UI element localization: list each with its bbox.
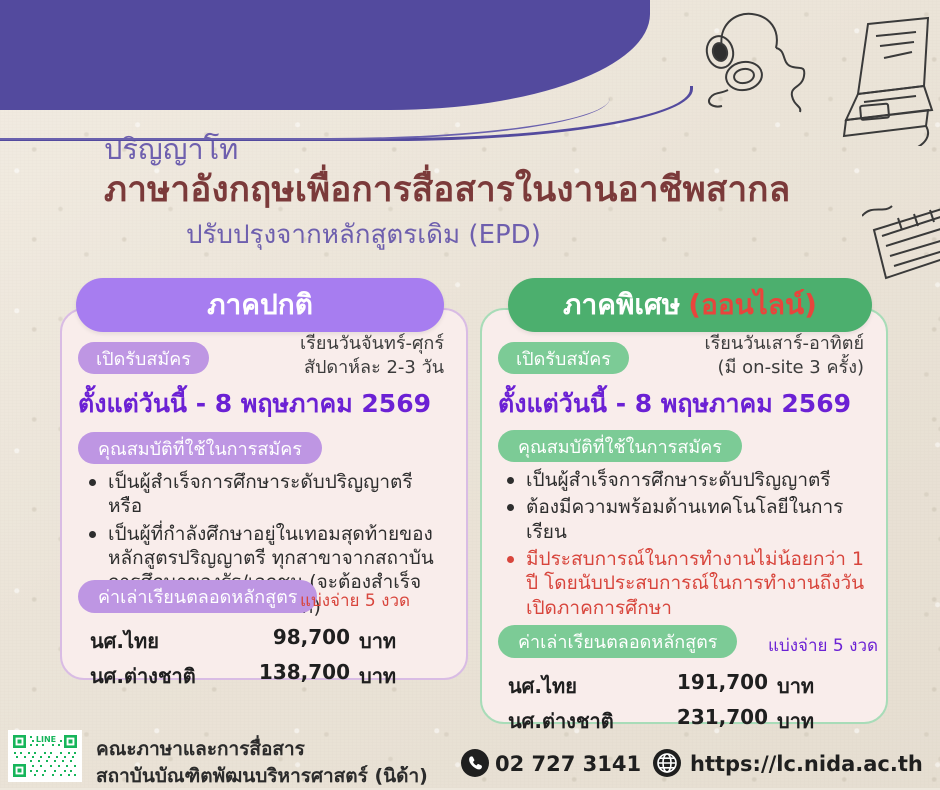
program-header-label: ภาคปกติ: [207, 283, 313, 327]
schedule-line-2: (มี on-site 3 ครั้ง): [648, 356, 864, 380]
phone-icon: [460, 748, 490, 778]
fee-row-currency: บาท: [359, 660, 396, 692]
list-item: เป็นผู้สำเร็จการศึกษาระดับปริญญาตรี หรือ: [82, 470, 448, 519]
fee-row-label: นศ.ไทย: [508, 670, 632, 702]
schedule-line-2: สัปดาห์ละ 2-3 วัน: [244, 356, 444, 380]
table-row: นศ.ไทย 98,700 บาท: [90, 625, 396, 657]
footer-website[interactable]: https://lc.nida.ac.th: [690, 752, 923, 776]
list-item: เป็นผู้สำเร็จการศึกษาระดับปริญญาตรี: [500, 468, 874, 492]
globe-icon: [652, 748, 682, 778]
fee-row-amount: 98,700: [214, 625, 350, 657]
fee-label-special-online: ค่าเล่าเรียนตลอดหลักสูตร: [498, 625, 737, 658]
deadline-regular: ตั้งแต่วันนี้ - 8 พฤษภาคม 2569: [78, 384, 431, 424]
fee-row-amount: 138,700: [214, 660, 350, 692]
line-qr-code[interactable]: LINE: [8, 730, 82, 782]
schedule-line-1: เรียนวันจันทร์-ศุกร์: [244, 332, 444, 356]
footer-organization: คณะภาษาและการสื่อสาร สถาบันบัณฑิตพัฒนบริ…: [96, 736, 428, 790]
fee-row-currency: บาท: [777, 705, 814, 737]
program-note: ปรับปรุงจากหลักสูตรเดิม (EPD): [186, 214, 541, 255]
badge-open-special-online: เปิดรับสมัคร: [498, 342, 629, 374]
table-row: นศ.ไทย 191,700 บาท: [508, 670, 814, 702]
fee-row-amount: 191,700: [632, 670, 768, 702]
footer-org-line-2: สถาบันบัณฑิตพัฒนบริหารศาสตร์ (นิด้า): [96, 763, 428, 790]
schedule-line-1: เรียนวันเสาร์-อาทิตย์: [648, 332, 864, 356]
fee-row-currency: บาท: [359, 625, 396, 657]
list-item: มีประสบการณ์ในการทำงานไม่น้อยกว่า 1 ปี โ…: [500, 547, 874, 620]
fee-row-label: นศ.ต่างชาติ: [90, 660, 214, 692]
deadline-special-online: ตั้งแต่วันนี้ - 8 พฤษภาคม 2569: [498, 384, 851, 424]
program-header-regular: ภาคปกติ: [76, 278, 444, 332]
list-item: ต้องมีความพร้อมด้านเทคโนโลยีในการเรียน: [500, 495, 874, 544]
footer-org-line-1: คณะภาษาและการสื่อสาร: [96, 736, 428, 763]
laptop-doodle-icon: [820, 14, 938, 146]
fee-row-label: นศ.ต่างชาติ: [508, 705, 632, 737]
fee-table-special-online: นศ.ไทย 191,700 บาท นศ.ต่างชาติ 231,700 บ…: [508, 670, 814, 740]
qualifications-list-special-online: เป็นผู้สำเร็จการศึกษาระดับปริญญาตรี ต้อง…: [500, 468, 874, 623]
fee-note-regular: แบ่งจ่าย 5 งวด: [300, 587, 410, 614]
program-header-label: ภาคพิเศษ: [563, 283, 680, 327]
fee-note-special-online: แบ่งจ่าย 5 งวด: [768, 632, 878, 659]
fee-label-regular: ค่าเล่าเรียนตลอดหลักสูตร: [78, 580, 317, 613]
schedule-special-online: เรียนวันเสาร์-อาทิตย์ (มี on-site 3 ครั้…: [648, 332, 864, 380]
table-row: นศ.ต่างชาติ 138,700 บาท: [90, 660, 396, 692]
badge-open-regular: เปิดรับสมัคร: [78, 342, 209, 374]
table-row: นศ.ต่างชาติ 231,700 บาท: [508, 705, 814, 737]
fee-row-amount: 231,700: [632, 705, 768, 737]
footer-phone[interactable]: 02 727 3141: [495, 752, 641, 776]
fee-row-currency: บาท: [777, 670, 814, 702]
schedule-regular: เรียนวันจันทร์-ศุกร์ สัปดาห์ละ 2-3 วัน: [244, 332, 444, 380]
keyboard-doodle-icon: [862, 196, 940, 288]
qr-line-label: LINE: [36, 735, 56, 744]
fee-table-regular: นศ.ไทย 98,700 บาท นศ.ต่างชาติ 138,700 บา…: [90, 625, 396, 695]
program-title: ภาษาอังกฤษเพื่อการสื่อสารในงานอาชีพสากล: [104, 162, 790, 217]
qr-code-image: LINE: [10, 732, 80, 780]
qualifications-label-regular: คุณสมบัติที่ใช้ในการสมัคร: [78, 432, 322, 464]
program-header-special-online: ภาคพิเศษ (ออนไลน์): [508, 278, 872, 332]
fee-row-label: นศ.ไทย: [90, 625, 214, 657]
qualifications-label-special-online: คุณสมบัติที่ใช้ในการสมัคร: [498, 430, 742, 462]
program-header-suffix: (ออนไลน์): [688, 283, 817, 327]
